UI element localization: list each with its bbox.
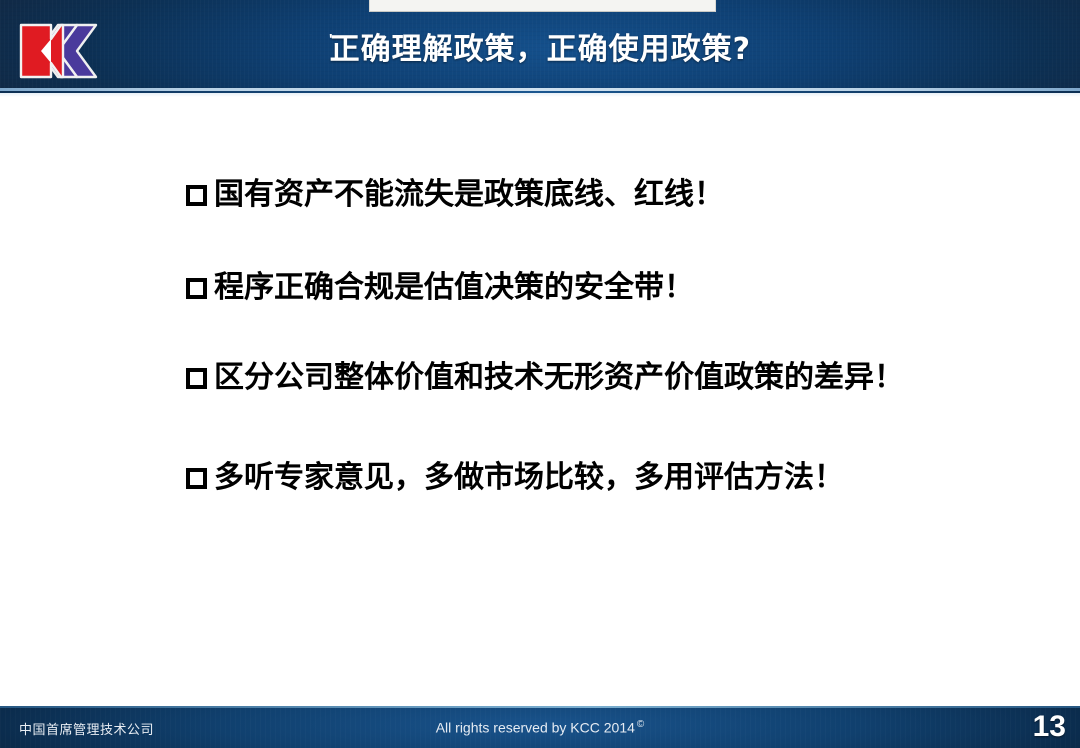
list-item: 程序正确合规是估值决策的安全带！	[186, 268, 1046, 308]
square-bullet-icon	[186, 278, 207, 299]
bullet-spacer	[186, 398, 1046, 458]
bullet-list: 国有资产不能流失是政策底线、红线！ 程序正确合规是估值决策的安全带！ 区分公司整…	[186, 175, 1046, 498]
title-text: 正确理解政策，正确使用政策?	[330, 30, 751, 70]
list-item-label: 程序正确合规是估值决策的安全带！	[214, 268, 694, 308]
square-bullet-icon	[186, 185, 207, 206]
list-item-label: 区分公司整体价值和技术无形资产价值政策的差异！	[214, 358, 904, 398]
list-item-label: 国有资产不能流失是政策底线、红线！	[214, 175, 724, 215]
footer-copyright: All rights reserved by KCC 2014©	[0, 719, 1080, 736]
square-bullet-icon	[186, 468, 207, 489]
list-item: 国有资产不能流失是政策底线、红线！	[186, 175, 1046, 215]
page-title: '正确理解政策，正确使用政策?	[0, 30, 1080, 70]
copyright-icon: ©	[637, 719, 644, 730]
bullet-spacer	[186, 215, 1046, 268]
page-number: 13	[1033, 710, 1066, 744]
bullet-spacer	[186, 308, 1046, 358]
slide-footer: 中国首席管理技术公司 All rights reserved by KCC 20…	[0, 706, 1080, 748]
title-prefix-mark: '	[329, 32, 333, 48]
footer-copyright-text: All rights reserved by KCC 2014	[436, 720, 635, 736]
slide: '正确理解政策，正确使用政策? 国有资产不能流失是政策底线、红线！ 程序正确合规…	[0, 0, 1080, 748]
slide-header: '正确理解政策，正确使用政策?	[0, 0, 1080, 88]
footer-top-rule	[0, 706, 1080, 708]
top-white-tab	[369, 0, 716, 12]
slide-body: 国有资产不能流失是政策底线、红线！ 程序正确合规是估值决策的安全带！ 区分公司整…	[0, 97, 1080, 706]
square-bullet-icon	[186, 368, 207, 389]
list-item: 多听专家意见，多做市场比较，多用评估方法！	[186, 458, 1046, 498]
list-item-label: 多听专家意见，多做市场比较，多用评估方法！	[214, 458, 844, 498]
list-item: 区分公司整体价值和技术无形资产价值政策的差异！	[186, 358, 1046, 398]
